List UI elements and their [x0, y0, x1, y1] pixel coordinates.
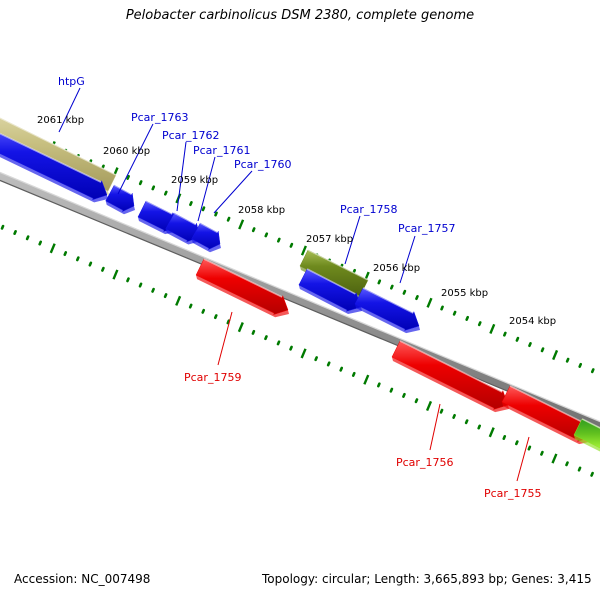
accession-text: Accession: NC_007498: [14, 572, 150, 586]
gene-label-Pcar_1760[interactable]: Pcar_1760: [234, 158, 291, 171]
leader-line-Pcar_1757: [400, 236, 415, 283]
leader-line-Pcar_1759: [218, 312, 232, 365]
ruler-label-2054-kbp: 2054 kbp: [509, 316, 556, 327]
leader-line-Pcar_1761: [198, 157, 215, 221]
gene-label-htpG[interactable]: htpG: [58, 75, 85, 88]
gene-feature-layer[interactable]: [0, 110, 600, 456]
ruler-label-2060-kbp: 2060 kbp: [103, 146, 150, 157]
ruler-label-2055-kbp: 2055 kbp: [441, 288, 488, 299]
gene-label-Pcar_1762[interactable]: Pcar_1762: [162, 129, 219, 142]
gene-label-Pcar_1759[interactable]: Pcar_1759: [184, 371, 241, 384]
ruler-label-2059-kbp: 2059 kbp: [171, 175, 218, 186]
leader-line-Pcar_1755: [517, 437, 529, 481]
leader-line-Pcar_1756: [430, 404, 440, 450]
genome-stats-text: Topology: circular; Length: 3,665,893 bp…: [262, 572, 592, 586]
gene-label-Pcar_1756[interactable]: Pcar_1756: [396, 456, 453, 469]
ruler-label-2056-kbp: 2056 kbp: [373, 263, 420, 274]
ruler-label-2061-kbp: 2061 kbp: [37, 115, 84, 126]
genome-map-canvas: Pelobacter carbinolicus DSM 2380, comple…: [0, 0, 600, 600]
leader-line-Pcar_1763: [118, 124, 153, 194]
genome-map-svg: [0, 0, 600, 600]
ruler-lower: [0, 217, 600, 489]
gene-label-Pcar_1757[interactable]: Pcar_1757: [398, 222, 455, 235]
ruler-label-2058-kbp: 2058 kbp: [238, 205, 285, 216]
ruler-upper: [0, 115, 600, 385]
gene-label-Pcar_1763[interactable]: Pcar_1763: [131, 111, 188, 124]
ruler-label-2057-kbp: 2057 kbp: [306, 234, 353, 245]
gene-label-Pcar_1761[interactable]: Pcar_1761: [193, 144, 250, 157]
gene-label-Pcar_1758[interactable]: Pcar_1758: [340, 203, 397, 216]
gene-label-Pcar_1755[interactable]: Pcar_1755: [484, 487, 541, 500]
